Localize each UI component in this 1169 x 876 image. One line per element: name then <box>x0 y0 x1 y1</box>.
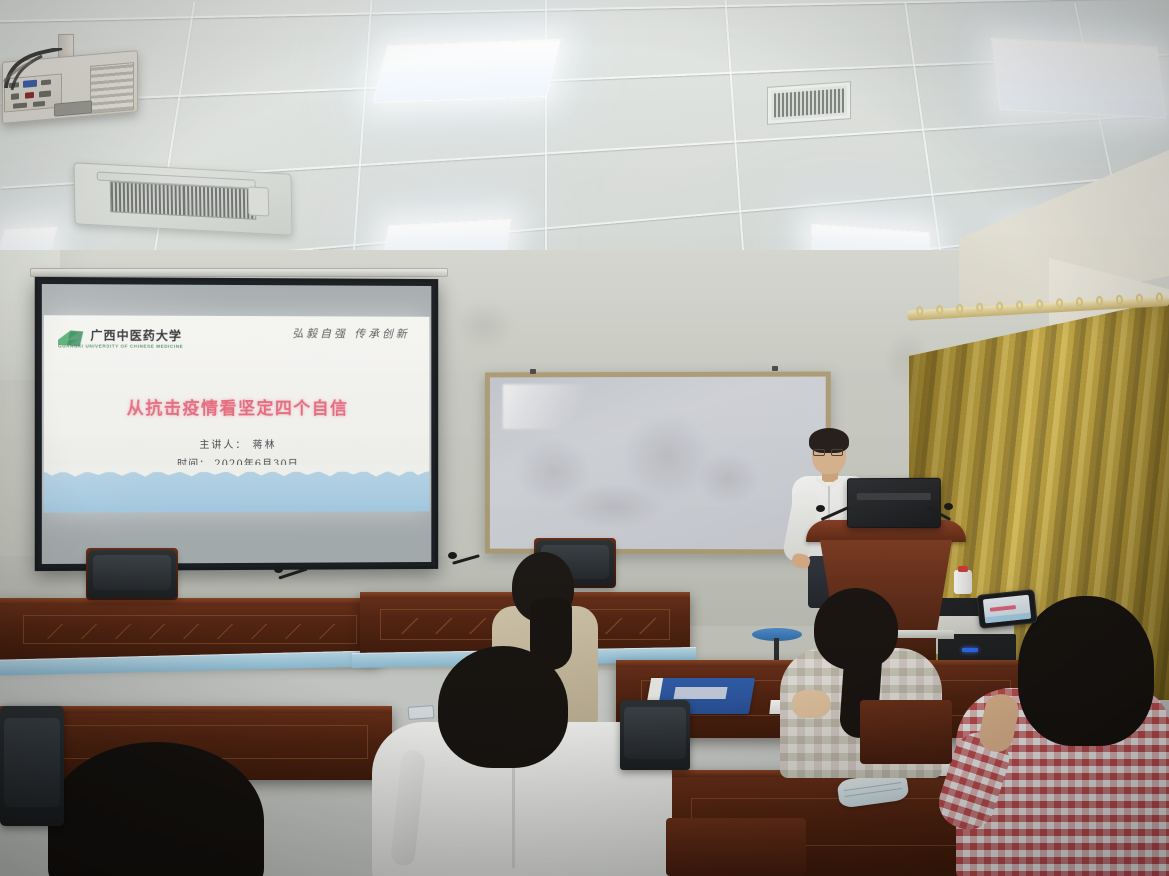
slide-title: 从抗击疫情看坚定四个自信 <box>44 394 429 419</box>
phone-screen <box>983 595 1031 624</box>
university-name-cn: 广西中医药大学 <box>90 326 182 343</box>
conference-chair <box>0 706 64 826</box>
whiteboard-clip-icon <box>772 366 778 371</box>
conference-chair <box>88 550 176 598</box>
screen-roller-casing <box>30 268 448 277</box>
cable-bundle-icon <box>2 48 74 94</box>
chair-back-wood <box>860 700 952 764</box>
microphone-head-icon <box>448 552 457 559</box>
wall-mark <box>452 300 516 352</box>
podium-monitor <box>847 478 941 528</box>
air-conditioner-icon <box>73 162 292 236</box>
air-vent-icon <box>767 81 851 125</box>
microphone-head-icon <box>274 566 283 573</box>
whiteboard[interactable] <box>485 372 831 555</box>
microphone-head-icon <box>944 503 953 510</box>
presentation-slide: 广西中医药大学 GUANGXI UNIVERSITY OF CHINESE ME… <box>44 315 429 512</box>
screen-surface: 广西中医药大学 GUANGXI UNIVERSITY OF CHINESE ME… <box>42 284 431 564</box>
microphone-head-icon <box>816 505 825 512</box>
chair-back-wood <box>666 818 806 876</box>
glasses-icon <box>813 449 845 456</box>
slide-footer-band <box>44 472 429 513</box>
projector-icon <box>2 38 138 130</box>
panel-light-icon <box>373 39 561 103</box>
university-name-en: GUANGXI UNIVERSITY OF CHINESE MEDICINE <box>58 343 183 348</box>
projection-screen[interactable]: 广西中医药大学 GUANGXI UNIVERSITY OF CHINESE ME… <box>35 277 438 571</box>
slide-speaker-line: 主讲人： 蒋林 <box>44 436 429 451</box>
lecture-hall-photo: 广西中医药大学 GUANGXI UNIVERSITY OF CHINESE ME… <box>0 0 1169 876</box>
conference-chair <box>620 700 690 770</box>
panel-light-icon <box>991 38 1166 119</box>
whiteboard-glare <box>503 384 617 429</box>
audience-woman-gingham <box>930 582 1169 876</box>
smartphone-camera[interactable] <box>976 589 1037 629</box>
whiteboard-clip-icon <box>530 369 536 374</box>
university-motto: 弘毅自强 传承创新 <box>292 325 409 341</box>
